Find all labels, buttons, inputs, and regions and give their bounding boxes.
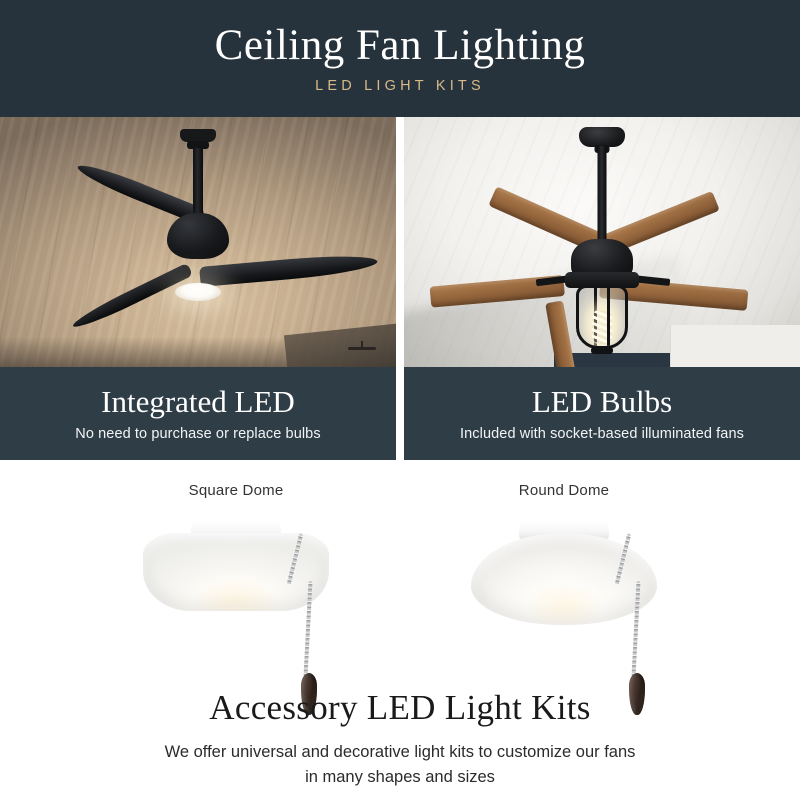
led-bulb-filament	[592, 310, 612, 344]
square-dome-glass-shade-icon	[143, 533, 329, 611]
fan-downrod	[598, 146, 607, 244]
round-dome-illustration	[449, 521, 679, 696]
page-header: Ceiling Fan Lighting LED LIGHT KITS	[0, 0, 800, 117]
black-three-blade-fan-icon	[0, 117, 396, 367]
accessory-description-line-1: We offer universal and decorative light …	[0, 740, 800, 765]
fan-downrod	[193, 148, 203, 220]
page-title: Ceiling Fan Lighting	[215, 23, 586, 68]
black-five-blade-fan-icon	[404, 117, 800, 367]
accessory-section: Square Dome Round Dome Accessory LED Lig…	[0, 460, 800, 800]
light-kit-label: Round Dome	[449, 482, 679, 499]
fan-blade	[70, 263, 193, 333]
panel-caption-title: LED Bulbs	[532, 385, 672, 419]
feature-panels: Integrated LED No need to purchase or re…	[0, 117, 800, 460]
round-dome-glass-shade-icon	[471, 533, 657, 625]
led-bulbs-fan-photo	[404, 117, 800, 367]
light-kit-round-dome: Round Dome	[449, 482, 679, 682]
integrated-led-fan-photo	[0, 117, 396, 367]
panel-caption-subtitle: No need to purchase or replace bulbs	[75, 426, 320, 442]
light-cage-finial	[591, 347, 613, 354]
light-kit-label: Square Dome	[121, 482, 351, 499]
fan-ceiling-mount	[579, 127, 625, 147]
page-subtitle: LED LIGHT KITS	[315, 78, 485, 94]
panel-caption-integrated-led: Integrated LED No need to purchase or re…	[0, 367, 396, 460]
accessory-description-line-2: in many shapes and sizes	[0, 765, 800, 790]
feature-panel-led-bulbs: LED Bulbs Included with socket-based ill…	[404, 117, 800, 460]
caged-led-bulb-light-icon	[576, 285, 628, 349]
feature-panel-integrated-led: Integrated LED No need to purchase or re…	[0, 117, 396, 460]
square-dome-illustration	[121, 521, 351, 696]
small-fan-blade	[348, 347, 376, 350]
fan-wood-blade	[545, 300, 579, 367]
light-kit-square-dome: Square Dome	[121, 482, 351, 682]
panel-caption-subtitle: Included with socket-based illuminated f…	[460, 426, 744, 442]
panel-caption-title: Integrated LED	[101, 385, 295, 419]
fan-motor-housing	[167, 213, 229, 259]
integrated-led-disc-light-icon	[175, 283, 221, 301]
panel-caption-led-bulbs: LED Bulbs Included with socket-based ill…	[404, 367, 800, 460]
light-kit-gallery: Square Dome Round Dome	[0, 482, 800, 682]
background-small-fan-icon	[348, 341, 376, 351]
accessory-description: We offer universal and decorative light …	[0, 740, 800, 790]
accessory-title: Accessory LED Light Kits	[0, 688, 800, 728]
fan-blade	[199, 252, 378, 287]
